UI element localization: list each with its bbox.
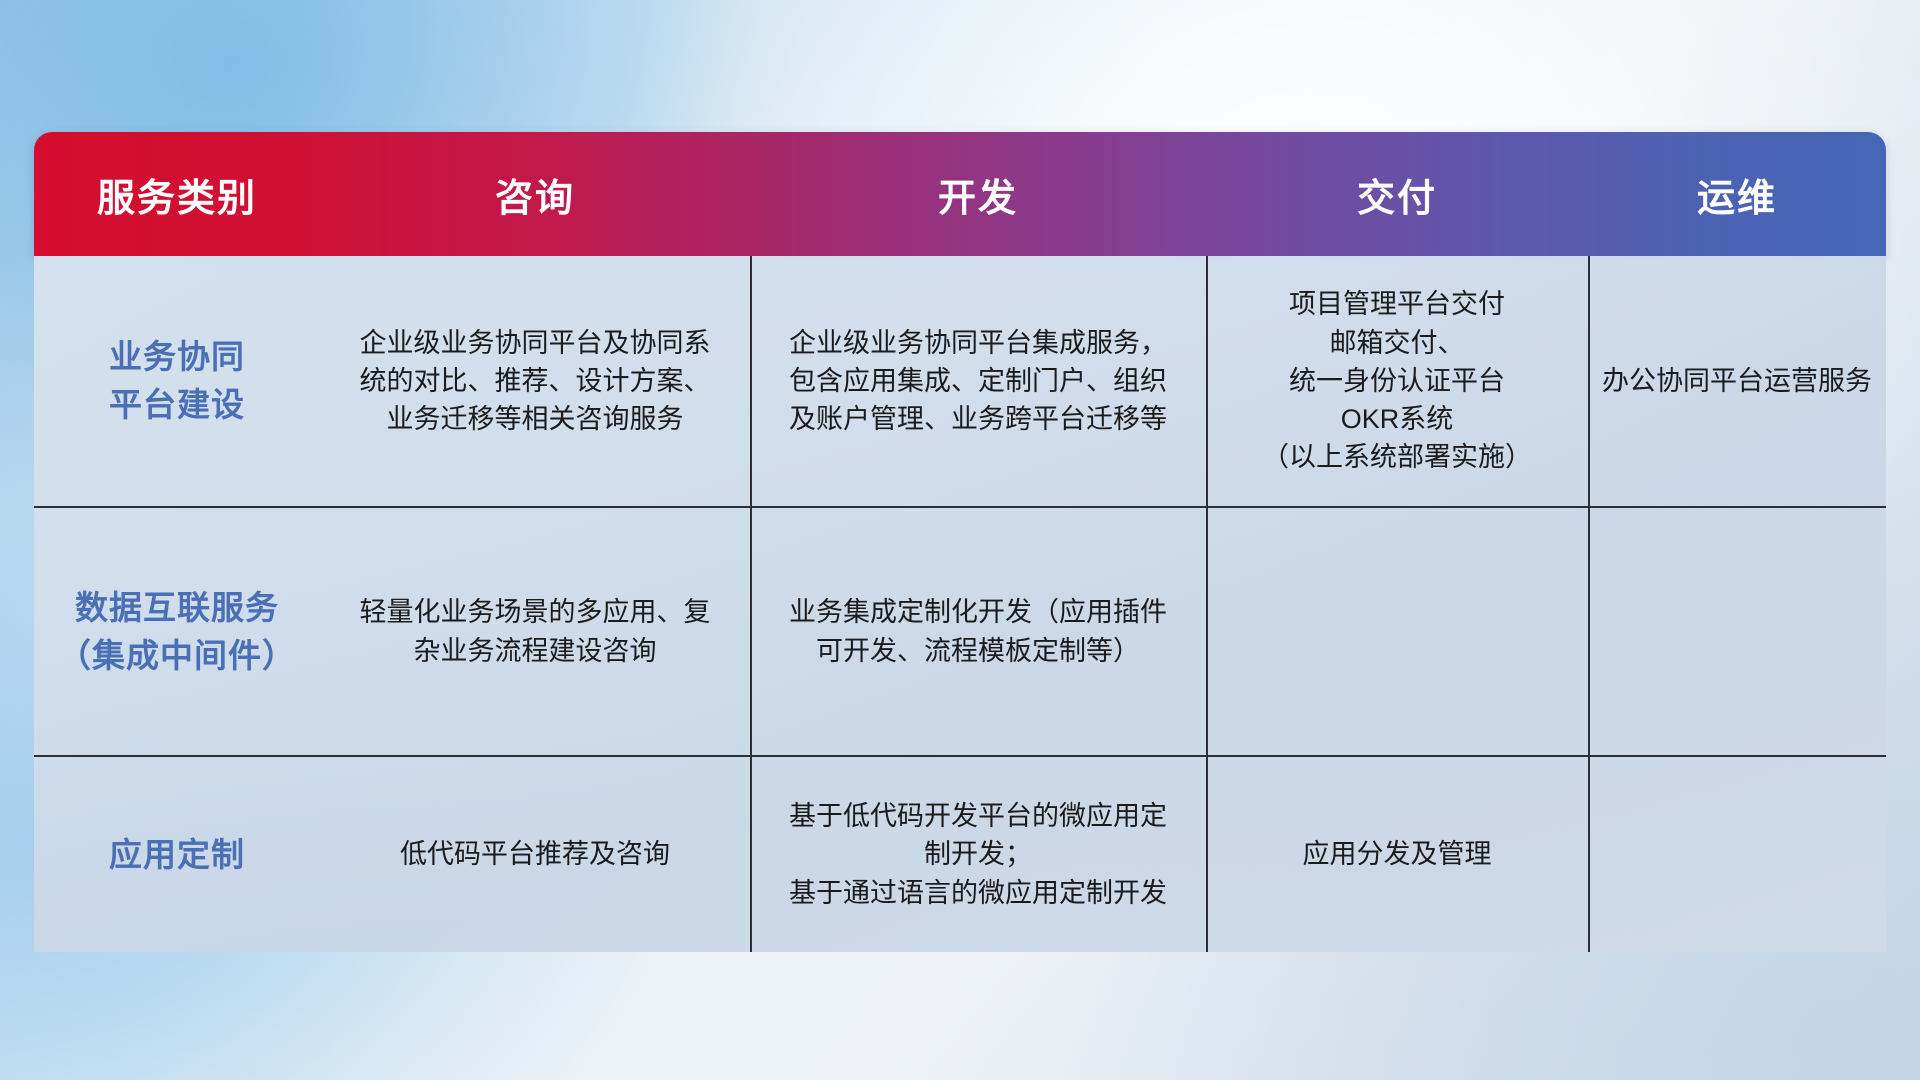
- cell-consulting: 低代码平台推荐及咨询: [320, 757, 750, 952]
- cell-operations: 办公协同平台运营服务: [1588, 256, 1886, 506]
- column-header-category: 服务类别: [34, 132, 320, 256]
- table-body: 业务协同 平台建设 企业级业务协同平台及协同系 统的对比、推荐、设计方案、 业务…: [34, 256, 1886, 952]
- cell-development: 业务集成定制化开发（应用插件 可开发、流程模板定制等）: [750, 508, 1206, 755]
- cell-development: 基于低代码开发平台的微应用定 制开发； 基于通过语言的微应用定制开发: [750, 757, 1206, 952]
- row-category-label: 业务协同 平台建设: [34, 256, 320, 506]
- service-matrix-table: 服务类别 咨询 开发 交付 运维 业务协同 平台建设 企业级业务协同平台及协同系…: [34, 132, 1886, 952]
- table-header-row: 服务类别 咨询 开发 交付 运维: [34, 132, 1886, 256]
- column-header-operations: 运维: [1588, 132, 1886, 256]
- cell-development: 企业级业务协同平台集成服务， 包含应用集成、定制门户、组织 及账户管理、业务跨平…: [750, 256, 1206, 506]
- table-row: 应用定制 低代码平台推荐及咨询 基于低代码开发平台的微应用定 制开发； 基于通过…: [34, 755, 1886, 952]
- column-header-consulting: 咨询: [320, 132, 750, 256]
- cell-delivery: 项目管理平台交付 邮箱交付、 统一身份认证平台 OKR系统 （以上系统部署实施）: [1206, 256, 1588, 506]
- cell-consulting: 企业级业务协同平台及协同系 统的对比、推荐、设计方案、 业务迁移等相关咨询服务: [320, 256, 750, 506]
- column-header-development: 开发: [750, 132, 1206, 256]
- table-row: 业务协同 平台建设 企业级业务协同平台及协同系 统的对比、推荐、设计方案、 业务…: [34, 256, 1886, 506]
- cell-delivery: [1206, 508, 1588, 755]
- cell-operations: [1588, 757, 1886, 952]
- row-category-label: 数据互联服务 （集成中间件）: [34, 508, 320, 755]
- table-row: 数据互联服务 （集成中间件） 轻量化业务场景的多应用、复 杂业务流程建设咨询 业…: [34, 506, 1886, 755]
- column-header-delivery: 交付: [1206, 132, 1588, 256]
- row-category-label: 应用定制: [34, 757, 320, 952]
- cell-operations: [1588, 508, 1886, 755]
- cell-delivery: 应用分发及管理: [1206, 757, 1588, 952]
- cell-consulting: 轻量化业务场景的多应用、复 杂业务流程建设咨询: [320, 508, 750, 755]
